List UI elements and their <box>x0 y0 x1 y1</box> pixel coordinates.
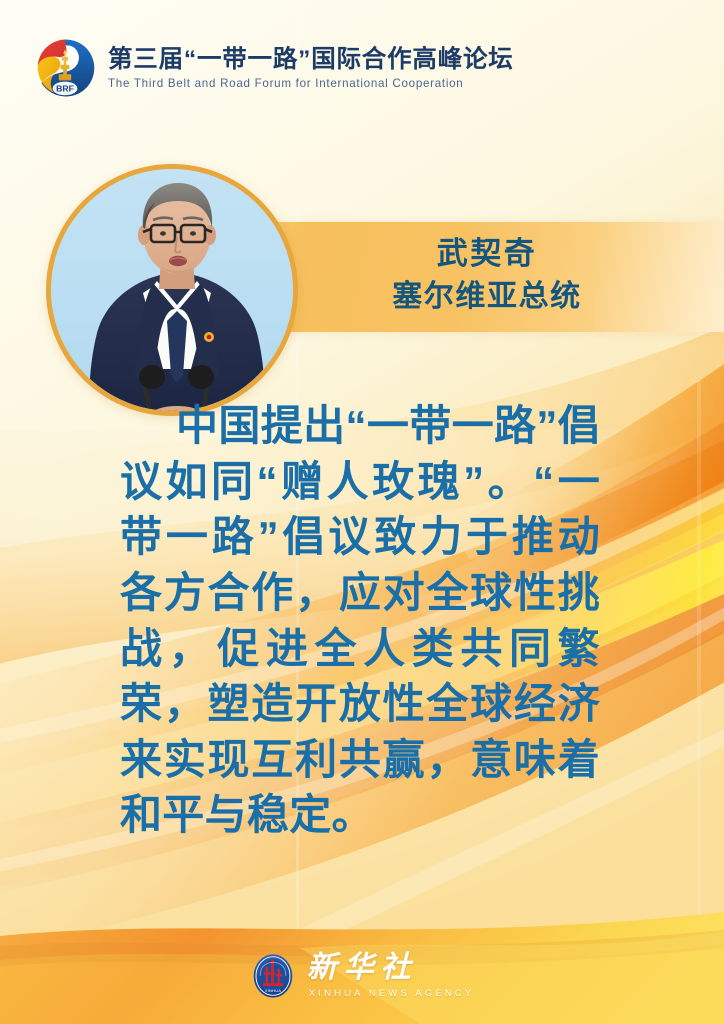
speaker-role: 塞尔维亚总统 <box>322 276 652 319</box>
brf-logo-text: BRF <box>56 84 74 94</box>
xinhua-wordmark: 新华社 XINHUA NEWS AGENCY <box>307 953 475 999</box>
xinhua-emblem-icon: XINHUA <box>250 953 296 999</box>
portrait-ring <box>46 164 298 416</box>
brf-logo-icon: BRF <box>34 37 96 99</box>
portrait-photo <box>51 169 293 411</box>
speaker-portrait <box>46 164 298 416</box>
xinhua-name-cn: 新华社 <box>307 953 418 983</box>
quote-text: 中国提出“一带一路”倡议如同“赠人玫瑰”。“一带一路”倡议致力于推动各方合作，应… <box>120 398 600 843</box>
poster-footer: XINHUA 新华社 XINHUA NEWS AGENCY <box>0 928 724 1024</box>
poster-header: BRF 第三届“一带一路”国际合作高峰论坛 The Third Belt and… <box>0 0 724 136</box>
brf-logo: BRF <box>34 37 96 99</box>
xinhua-logo: XINHUA 新华社 XINHUA NEWS AGENCY <box>250 953 475 999</box>
speaker-name: 武契奇 <box>322 232 652 276</box>
header-title-group: 第三届“一带一路”国际合作高峰论坛 The Third Belt and Roa… <box>108 46 514 90</box>
forum-title-cn: 第三届“一带一路”国际合作高峰论坛 <box>108 46 514 73</box>
speaker-name-group: 武契奇 塞尔维亚总统 <box>322 232 652 319</box>
xinhua-emblem-ring-text: XINHUA <box>264 988 281 993</box>
portrait-illustration <box>51 169 293 411</box>
xinhua-name-en: XINHUA NEWS AGENCY <box>309 988 475 999</box>
poster-root: BRF 第三届“一带一路”国际合作高峰论坛 The Third Belt and… <box>0 0 724 1024</box>
forum-title-en: The Third Belt and Road Forum for Intern… <box>108 77 514 90</box>
